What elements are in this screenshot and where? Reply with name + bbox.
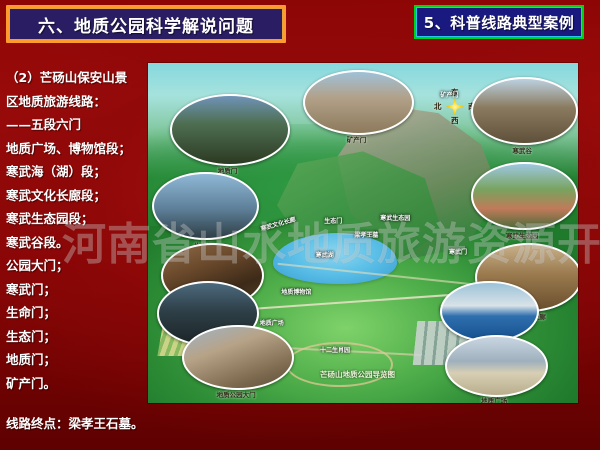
photo-oval-cambrian-lake[interactable]: [440, 281, 539, 343]
body-text-column: （2）芒砀山保安山景 区地质旅游线路： ——五段六门 地质广场、博物馆段； 寒武…: [6, 66, 156, 395]
slide-root: 六、地质公园科学解说问题 5、科普线路典型案例 （2）芒砀山保安山景 区地质旅游…: [0, 0, 600, 450]
body-footer-line: 线路终点：梁孝王石墓。: [6, 414, 306, 434]
photo-label-mineral-gate: 矿产门: [347, 134, 367, 144]
body-line: 寒武海（湖）段；: [6, 160, 156, 184]
body-line: 寒武文化长廊段；: [6, 184, 156, 208]
photo-oval-cambrian-eco-park[interactable]: [471, 162, 578, 231]
body-line: 寒武谷段。: [6, 231, 156, 255]
photo-oval-park-main-gate[interactable]: [182, 325, 294, 390]
section-title-left: 六、地质公园科学解说问题: [6, 5, 286, 43]
body-line: 寒武门；: [6, 278, 156, 302]
body-line: 地质广场、博物馆段；: [6, 137, 156, 161]
body-line: 生态门；: [6, 325, 156, 349]
section-title-right-text: 5、科普线路典型案例: [424, 12, 574, 33]
body-line: 地质门；: [6, 348, 156, 372]
compass-label-north: 北: [434, 101, 442, 112]
body-line: （2）芒砀山保安山景: [6, 66, 156, 90]
body-line: 区地质旅游线路：: [6, 90, 156, 114]
photo-label-geology-plaza: 地质广场: [481, 395, 507, 404]
map-label: 十二生肖园: [320, 345, 350, 354]
body-line: ——五段六门: [6, 113, 156, 137]
photo-oval-mineral-gate[interactable]: [303, 70, 415, 135]
map-label: 矿产门: [440, 90, 458, 99]
body-line: 寒武生态园段；: [6, 207, 156, 231]
compass-label-west: 西: [451, 115, 459, 126]
body-line: 公园大门；: [6, 254, 156, 278]
body-line: 矿产门。: [6, 372, 156, 396]
map-label: 寒武门: [449, 247, 467, 256]
park-map-image: 东 北 南 西 矿产门 梁孝王墓 寒武湖 地质博物馆 地质广场 寒武文化长廊 寒…: [148, 63, 578, 403]
body-line: 生命门；: [6, 301, 156, 325]
photo-oval-cambrian-valley[interactable]: [471, 77, 578, 146]
photo-label-cambrian-eco-park: 寒武生态园: [506, 230, 539, 240]
map-label: 寒武生态园: [380, 213, 410, 222]
map-label: 生态门: [324, 216, 342, 225]
photo-label-park-main-gate: 地质公园大门: [217, 389, 256, 399]
section-title-right: 5、科普线路典型案例: [414, 5, 584, 39]
photo-oval-ecology-gate[interactable]: [152, 172, 259, 241]
photo-label-cambrian-valley: 寒武谷: [512, 145, 532, 155]
map-label: 梁孝王墓: [354, 230, 378, 239]
section-title-left-text: 六、地质公园科学解说问题: [38, 12, 254, 37]
section-title-right-inner: 5、科普线路典型案例: [416, 7, 582, 37]
map-lake-shape: [273, 233, 398, 284]
compass-star-icon: [446, 98, 464, 116]
photo-oval-geology-plaza[interactable]: [445, 335, 548, 397]
section-title-left-inner: 六、地质公园科学解说问题: [9, 8, 283, 40]
map-title: 芒砀山地质公园导览图: [320, 369, 395, 380]
map-label: 地质广场: [260, 318, 284, 327]
map-label: 寒武湖: [316, 250, 334, 259]
map-label: 地质博物馆: [281, 287, 311, 296]
photo-oval-geology-gate[interactable]: [170, 94, 290, 166]
